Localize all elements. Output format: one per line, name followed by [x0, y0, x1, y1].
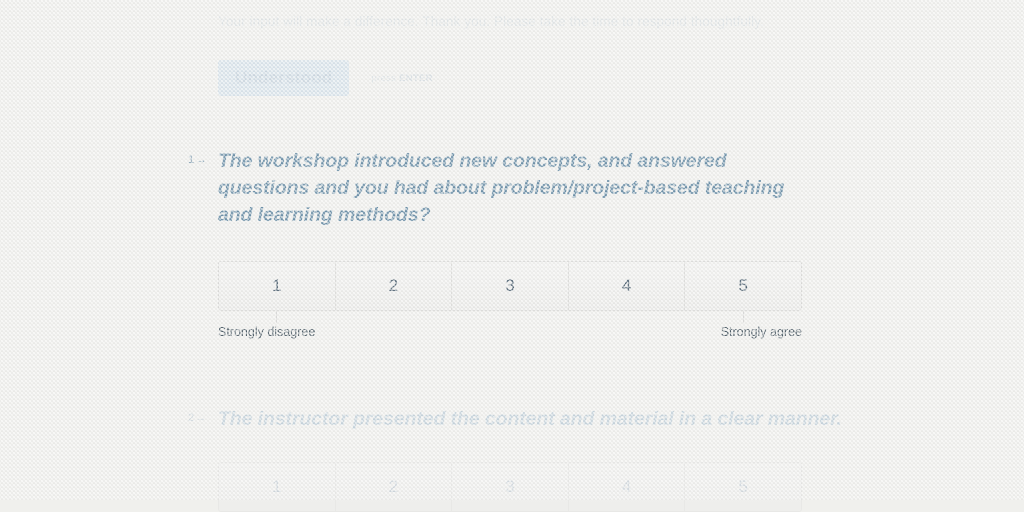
question-1-index: 1 — [188, 154, 195, 166]
rating-option-5[interactable]: 5 — [685, 262, 801, 310]
question-1-header: 1→ The workshop introduced new concepts,… — [0, 148, 1024, 234]
press-enter-hint: press ENTER — [371, 73, 432, 84]
question-block-2: 2→ The instructor presented the content … — [0, 406, 1024, 446]
rating-option-4[interactable]: 4 — [569, 262, 686, 310]
rating-scale-1-options: 1 2 3 4 5 — [218, 261, 802, 311]
rating-scale-2: 1 2 3 4 5 — [218, 462, 802, 512]
scale-tick-high-icon — [743, 311, 744, 323]
question-2-number: 2→ — [188, 412, 207, 424]
rating-option-1[interactable]: 1 — [219, 463, 336, 511]
rating-option-1[interactable]: 1 — [219, 262, 336, 310]
rating-scale-1-labels: Strongly disagree Strongly agree — [218, 325, 802, 341]
rating-option-5[interactable]: 5 — [685, 463, 801, 511]
scale-label-high: Strongly agree — [721, 325, 802, 339]
scale-tick-low-icon — [276, 311, 277, 323]
question-block-1: 1→ The workshop introduced new concepts,… — [0, 148, 1024, 234]
question-1-number: 1→ — [188, 154, 207, 166]
rating-option-2[interactable]: 2 — [336, 262, 453, 310]
rating-scale-2-options: 1 2 3 4 5 — [218, 462, 802, 512]
arrow-right-icon: → — [196, 154, 208, 166]
question-2-header: 2→ The instructor presented the content … — [0, 406, 1024, 446]
press-enter-prefix: press — [371, 73, 399, 84]
rating-option-2[interactable]: 2 — [336, 463, 453, 511]
understood-button[interactable]: Understood — [218, 60, 349, 96]
press-enter-key: ENTER — [399, 73, 433, 84]
rating-option-3[interactable]: 3 — [452, 262, 569, 310]
arrow-right-icon: → — [196, 412, 208, 424]
intro-statement-text: Your input will make a difference. Thank… — [218, 14, 764, 29]
scale-label-low: Strongly disagree — [218, 325, 315, 339]
rating-scale-1: 1 2 3 4 5 Strongly disagree Strongly agr… — [218, 261, 802, 341]
question-2-text: The instructor presented the content and… — [218, 406, 858, 433]
question-1-text: The workshop introduced new concepts, an… — [218, 148, 818, 229]
rating-option-3[interactable]: 3 — [452, 463, 569, 511]
question-2-index: 2 — [188, 412, 195, 424]
understood-row: Understood press ENTER — [218, 60, 433, 96]
rating-option-4[interactable]: 4 — [569, 463, 686, 511]
rating-scale-1-ticks — [218, 311, 802, 323]
